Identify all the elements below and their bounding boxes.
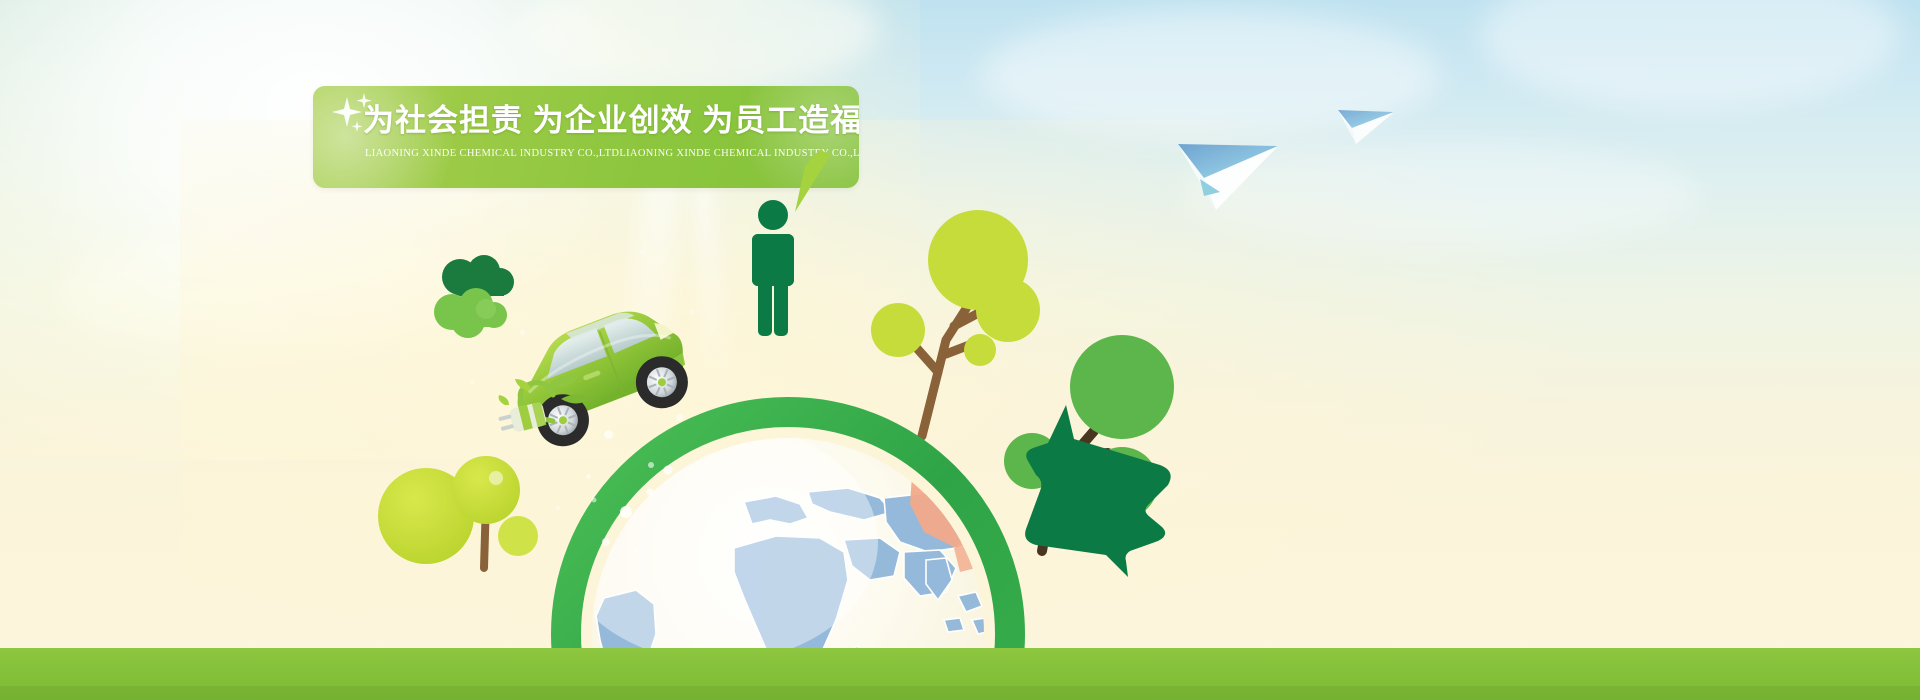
paper-plane-icon <box>1178 144 1278 210</box>
tree-yellow <box>376 400 546 570</box>
paper-plane-icon <box>1338 110 1394 144</box>
tree-foliage <box>452 456 520 524</box>
banner-stage: 为社会担责 为企业创效 为员工造福 LIAONING XINDE CHEMICA… <box>0 0 1920 700</box>
page-title: 为社会担责 为企业创效 为员工造福 <box>363 102 843 140</box>
ground-shade <box>0 686 1920 700</box>
headline-banner: 为社会担责 为企业创效 为员工造福 LIAONING XINDE CHEMICA… <box>313 86 859 188</box>
tree-foliage <box>498 516 538 556</box>
paper-plane-group <box>1160 100 1400 220</box>
person-icon <box>746 198 800 338</box>
company-subtitle: LIAONING XINDE CHEMICAL INDUSTRY CO.,LTD… <box>365 148 855 159</box>
